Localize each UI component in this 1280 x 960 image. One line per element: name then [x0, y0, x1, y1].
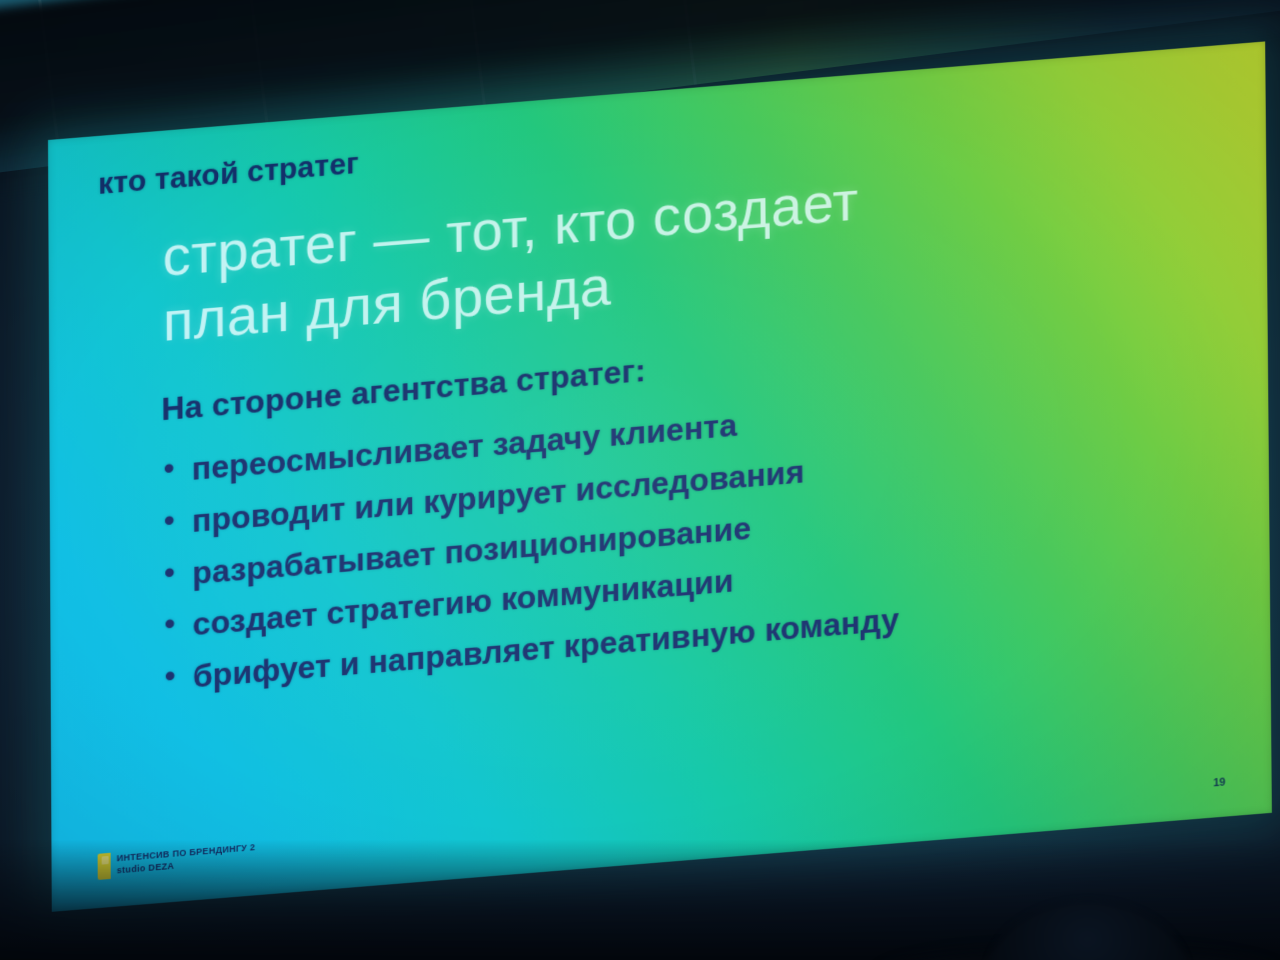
slide-surface: кто такой стратег стратег — тот, кто соз…	[48, 41, 1272, 911]
screenshot-stage: кто такой стратег стратег — тот, кто соз…	[0, 0, 1280, 960]
page-number: 19	[1213, 776, 1225, 789]
projection-screen: кто такой стратег стратег — тот, кто соз…	[48, 41, 1272, 911]
